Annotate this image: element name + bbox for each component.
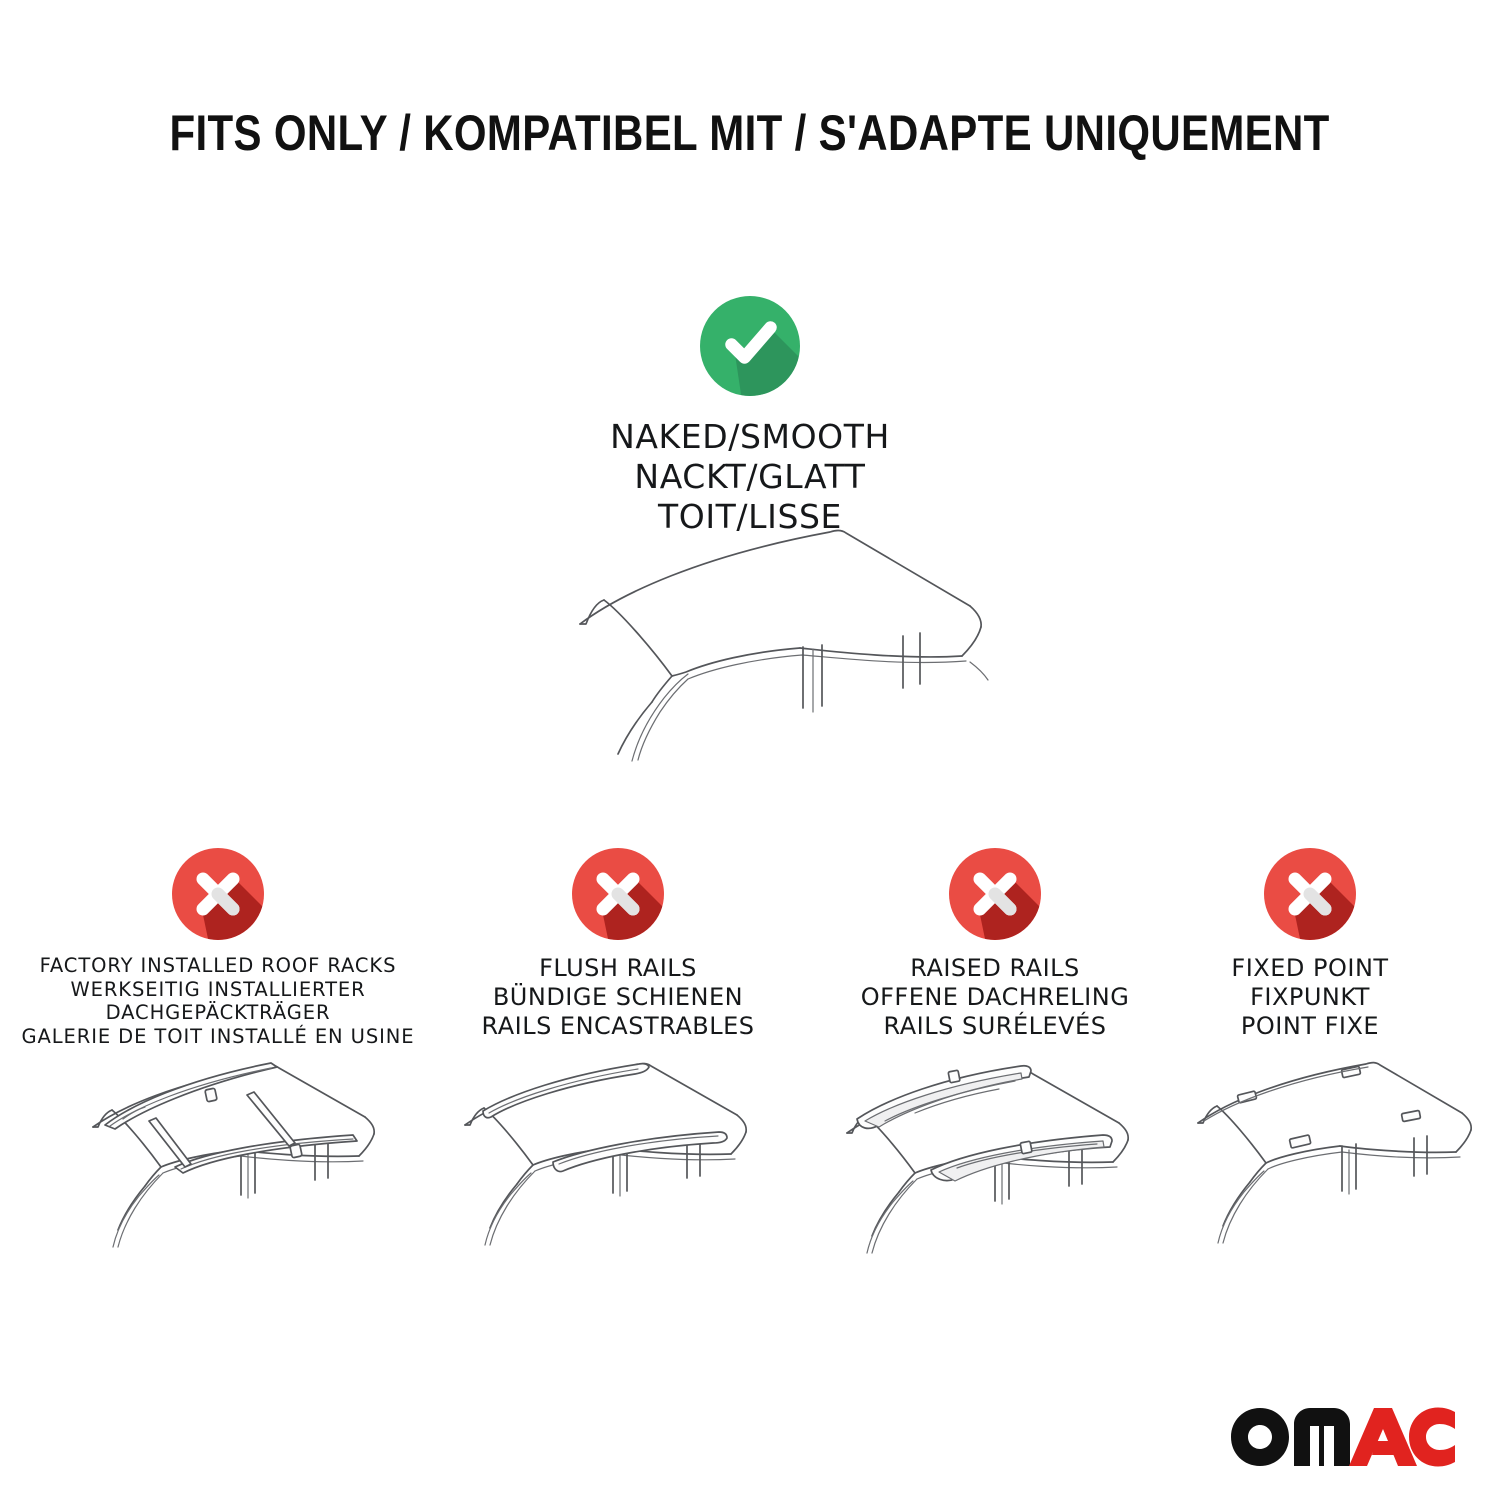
compatible-label-en: NAKED/SMOOTH bbox=[0, 417, 1500, 457]
check-mark-icon bbox=[700, 296, 800, 396]
fixed-point-illustration bbox=[1180, 1055, 1500, 1260]
x-mark-icon bbox=[949, 848, 1041, 940]
icon-wrap bbox=[815, 848, 1175, 948]
red-x-circle-icon bbox=[949, 848, 1041, 940]
incompatible-item-raised-rails: RAISED RAILS OFFENE DACHRELING RAILS SUR… bbox=[815, 848, 1175, 1041]
incompatible-labels: FACTORY INSTALLED ROOF RACKS WERKSEITIG … bbox=[8, 954, 428, 1048]
green-check-circle-icon bbox=[700, 296, 800, 396]
incompatible-label-line: OFFENE DACHRELING bbox=[815, 983, 1175, 1012]
incompatible-label-line: BÜNDIGE SCHIENEN bbox=[438, 983, 798, 1012]
incompatible-item-factory-roof-racks: FACTORY INSTALLED ROOF RACKS WERKSEITIG … bbox=[8, 848, 428, 1048]
incompatible-label-line: RAILS ENCASTRABLES bbox=[438, 1012, 798, 1041]
omac-logo bbox=[1228, 1406, 1458, 1468]
incompatible-label-line: FACTORY INSTALLED ROOF RACKS bbox=[8, 954, 428, 978]
incompatible-illustrations bbox=[0, 1055, 1500, 1265]
incompatible-label-line: FLUSH RAILS bbox=[438, 954, 798, 983]
incompatible-labels: RAISED RAILS OFFENE DACHRELING RAILS SUR… bbox=[815, 954, 1175, 1041]
naked-smooth-roof-illustration bbox=[500, 516, 1020, 796]
icon-wrap bbox=[8, 848, 428, 948]
incompatible-label-line: FIXED POINT bbox=[1180, 954, 1440, 983]
red-x-circle-icon bbox=[1264, 848, 1356, 940]
incompatible-labels: FIXED POINT FIXPUNKT POINT FIXE bbox=[1180, 954, 1440, 1041]
icon-wrap bbox=[438, 848, 798, 948]
red-x-circle-icon bbox=[572, 848, 664, 940]
page-title: FITS ONLY / KOMPATIBEL MIT / S'ADAPTE UN… bbox=[0, 104, 1500, 162]
x-mark-icon bbox=[172, 848, 264, 940]
incompatible-labels: FLUSH RAILS BÜNDIGE SCHIENEN RAILS ENCAS… bbox=[438, 954, 798, 1041]
incompatible-label-line: POINT FIXE bbox=[1180, 1012, 1440, 1041]
flush-rails-illustration bbox=[435, 1055, 815, 1260]
x-mark-icon bbox=[1264, 848, 1356, 940]
compatible-label-de: NACKT/GLATT bbox=[0, 457, 1500, 497]
incompatible-label-line: GALERIE DE TOIT INSTALLÉ EN USINE bbox=[8, 1025, 428, 1049]
incompatible-label-line: RAISED RAILS bbox=[815, 954, 1175, 983]
icon-wrap bbox=[1180, 848, 1440, 948]
incompatible-item-flush-rails: FLUSH RAILS BÜNDIGE SCHIENEN RAILS ENCAS… bbox=[438, 848, 798, 1041]
incompatible-label-line: FIXPUNKT bbox=[1180, 983, 1440, 1012]
incompatible-section: FACTORY INSTALLED ROOF RACKS WERKSEITIG … bbox=[0, 848, 1500, 1048]
compatible-section: NAKED/SMOOTH NACKT/GLATT TOIT/LISSE bbox=[0, 296, 1500, 537]
incompatible-label-line: WERKSEITIG INSTALLIERTER bbox=[8, 978, 428, 1002]
incompatible-label-line: RAILS SURÉLEVÉS bbox=[815, 1012, 1175, 1041]
factory-roof-rack-illustration bbox=[35, 1055, 415, 1260]
omac-logo-mark bbox=[1228, 1406, 1458, 1468]
x-mark-icon bbox=[572, 848, 664, 940]
incompatible-label-line: DACHGEPÄCKTRÄGER bbox=[8, 1001, 428, 1025]
page-title-text: FITS ONLY / KOMPATIBEL MIT / S'ADAPTE UN… bbox=[170, 104, 1330, 162]
raised-rails-illustration bbox=[825, 1055, 1205, 1260]
red-x-circle-icon bbox=[172, 848, 264, 940]
incompatible-item-fixed-point: FIXED POINT FIXPUNKT POINT FIXE bbox=[1180, 848, 1440, 1041]
